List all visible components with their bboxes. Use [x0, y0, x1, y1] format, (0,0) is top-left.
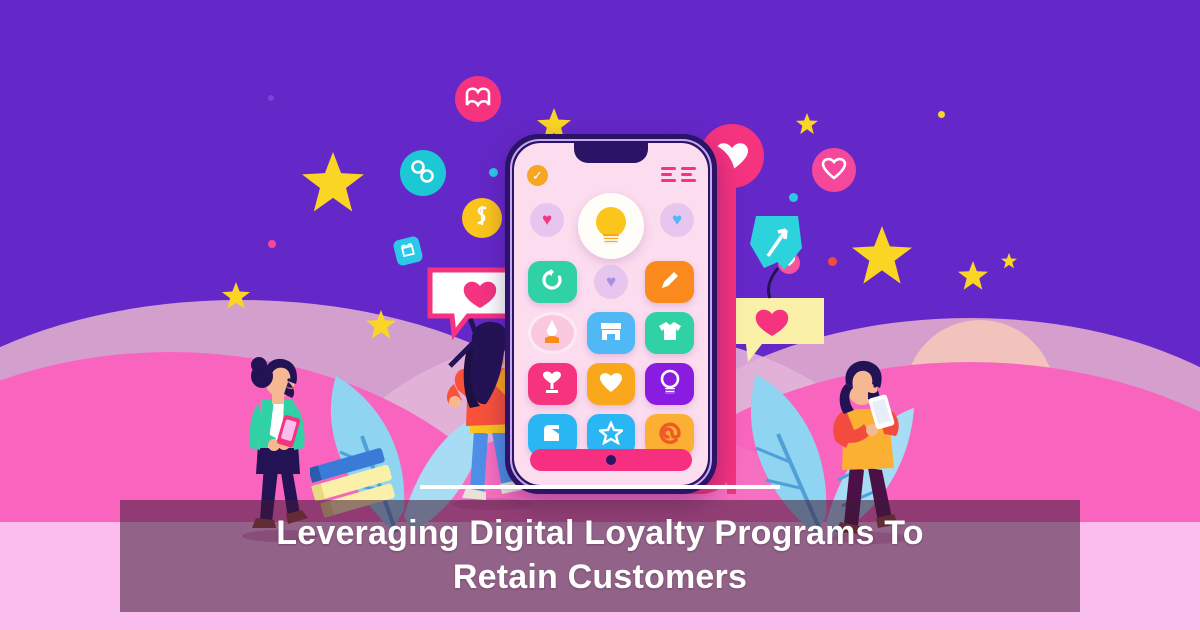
- coin-bubble: [462, 198, 502, 238]
- title-line-1: Leveraging Digital Loyalty Programs To: [276, 514, 923, 552]
- gift-tag-icon: [398, 239, 419, 263]
- menu-lines-icon[interactable]: [661, 167, 696, 182]
- decorative-dot: [938, 111, 945, 118]
- decorative-dot: [268, 95, 274, 101]
- heart-icon-blue-faded: ♥: [660, 203, 694, 237]
- lightbulb-icon-hero[interactable]: [578, 193, 644, 259]
- hero-illustration-canvas: ✓ ♥ ♥: [0, 0, 1200, 630]
- app-icon-grid: ♥: [528, 261, 694, 456]
- at-sign-icon: [657, 420, 683, 450]
- lightbulb-glyph: [593, 204, 629, 248]
- hand-tap-icon: [540, 421, 564, 449]
- phone-screen: ✓ ♥ ♥: [514, 143, 708, 485]
- menu-group-left: [661, 167, 676, 182]
- phone-frame: ✓ ♥ ♥: [505, 134, 717, 494]
- share-bubble: [400, 150, 446, 196]
- heart-icon: [599, 371, 623, 397]
- refresh-icon: [541, 269, 563, 295]
- decorative-dot: [828, 257, 837, 266]
- edit-app[interactable]: [645, 261, 694, 303]
- phone-notch: [574, 143, 648, 163]
- pencil-icon: [659, 269, 681, 295]
- heart-glyph: ♥: [542, 210, 552, 230]
- page-title: Leveraging Digital Loyalty Programs To R…: [250, 512, 949, 599]
- bubble-pointer-left: [440, 330, 500, 370]
- open-book-icon: [465, 86, 491, 113]
- heart-outline-icon: [821, 156, 847, 185]
- menu-group-right: [681, 167, 696, 182]
- trophy-icon: [540, 370, 564, 398]
- title-line-2: Retain Customers: [453, 558, 747, 596]
- favorite-app[interactable]: [587, 363, 636, 405]
- medal-icon: [540, 318, 564, 348]
- smartphone-mockup: ✓ ♥ ♥: [505, 134, 727, 494]
- heart-icon: ♥: [594, 265, 628, 299]
- trophy-app[interactable]: [528, 363, 577, 405]
- link-icon: [410, 158, 436, 189]
- heart-faded-app[interactable]: ♥: [587, 261, 636, 303]
- medal-app[interactable]: [528, 312, 577, 354]
- star-icon: [599, 421, 623, 449]
- heart-bubble: [812, 148, 856, 192]
- lightbulb-icon: [659, 369, 681, 399]
- reading-bubble: [455, 76, 501, 122]
- decorative-dot: [268, 240, 276, 248]
- heart-glyph: ♥: [672, 210, 682, 230]
- home-indicator[interactable]: [530, 449, 692, 471]
- dollar-coin-icon: [472, 204, 492, 233]
- check-icon: ✓: [527, 165, 548, 186]
- store-app[interactable]: [587, 312, 636, 354]
- check-glyph: ✓: [532, 168, 543, 184]
- storefront-icon: [599, 320, 623, 346]
- heart-icon-pink-faded: ♥: [530, 203, 564, 237]
- tshirt-icon: [658, 320, 682, 346]
- idea-app[interactable]: [645, 363, 694, 405]
- home-dot: [606, 455, 616, 465]
- decorative-dot: [489, 168, 498, 177]
- decorative-dot: [789, 193, 798, 202]
- shirt-app[interactable]: [645, 312, 694, 354]
- title-overlay-band: Leveraging Digital Loyalty Programs To R…: [120, 500, 1080, 612]
- divider-rule: [420, 485, 780, 489]
- refresh-app[interactable]: [528, 261, 577, 303]
